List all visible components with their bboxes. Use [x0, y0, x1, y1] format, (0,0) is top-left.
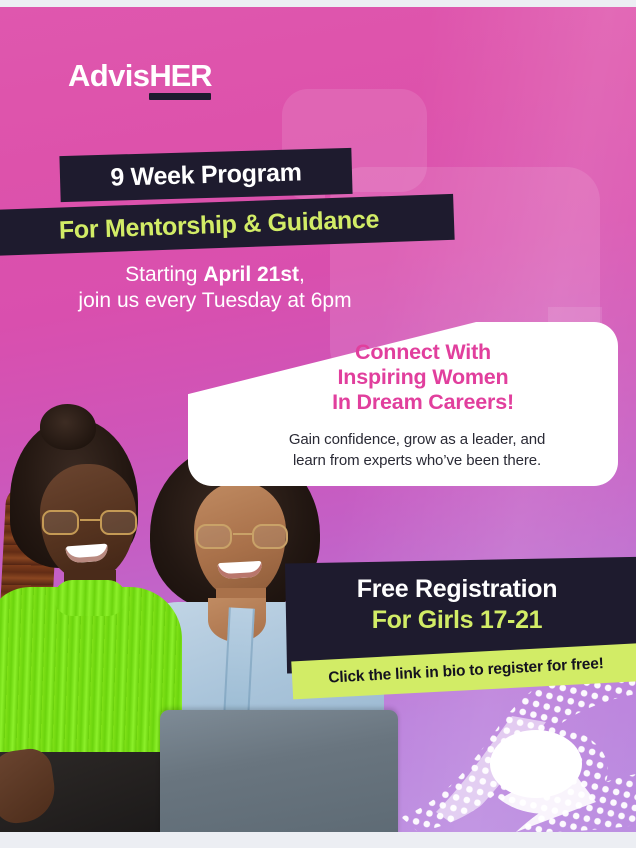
value-proposition-body: Gain confidence, grow as a leader, and l…: [240, 429, 588, 472]
page-top-strip: [0, 0, 636, 7]
schedule-line-one-suffix: ,: [299, 263, 305, 286]
value-proposition-heading-line-2: Inspiring Women: [258, 365, 588, 390]
value-proposition-body-line-1: Gain confidence, grow as a leader, and: [246, 429, 588, 450]
page-bottom-strip: [0, 832, 636, 848]
headline-box-mentorship-label: For Mentorship & Guidance: [58, 205, 379, 245]
value-proposition-body-line-2: learn from experts who’ve been there.: [246, 450, 588, 471]
photo-woman-left-glasses-icon: [42, 510, 137, 536]
value-proposition-heading-line-3: In Dream Careers!: [258, 390, 588, 415]
brand-logo: AdvisHER: [68, 58, 211, 94]
photo-laptop: [160, 710, 398, 842]
schedule-line-one-prefix: Starting: [125, 263, 203, 286]
value-proposition-card: Connect With Inspiring Women In Dream Ca…: [188, 322, 618, 486]
brand-logo-suffix-wrap: HER: [149, 58, 211, 93]
schedule-date-bold: April 21st: [203, 263, 299, 286]
headline-box-program: 9 Week Program: [59, 148, 352, 202]
brand-logo-prefix: Advis: [68, 58, 149, 93]
schedule-line-one: Starting April 21st,: [0, 262, 430, 288]
headline-box-program-label: 9 Week Program: [110, 158, 302, 192]
registration-line-one: Free Registration: [286, 575, 628, 604]
brand-logo-underline: [149, 93, 211, 100]
poster-canvas: AdvisHER 9 Week Program For Mentorship &…: [0, 0, 636, 848]
schedule-block: Starting April 21st, join us every Tuesd…: [0, 262, 430, 313]
schedule-line-two: join us every Tuesday at 6pm: [0, 288, 430, 314]
cta-banner-label: Click the link in bio to register for fr…: [328, 654, 616, 687]
value-proposition-heading-line-1: Connect With: [258, 340, 588, 365]
brand-logo-suffix: HER: [149, 58, 211, 93]
value-proposition-card-content: Connect With Inspiring Women In Dream Ca…: [188, 322, 618, 486]
photo-woman-right-glasses-icon: [196, 524, 288, 550]
registration-text-block: Free Registration For Girls 17-21: [286, 575, 636, 635]
value-proposition-heading: Connect With Inspiring Women In Dream Ca…: [240, 340, 588, 415]
registration-line-two: For Girls 17-21: [286, 606, 628, 635]
photo-woman-left-hair-bun: [40, 404, 96, 450]
photo-woman-left-turtleneck-collar: [54, 580, 126, 616]
